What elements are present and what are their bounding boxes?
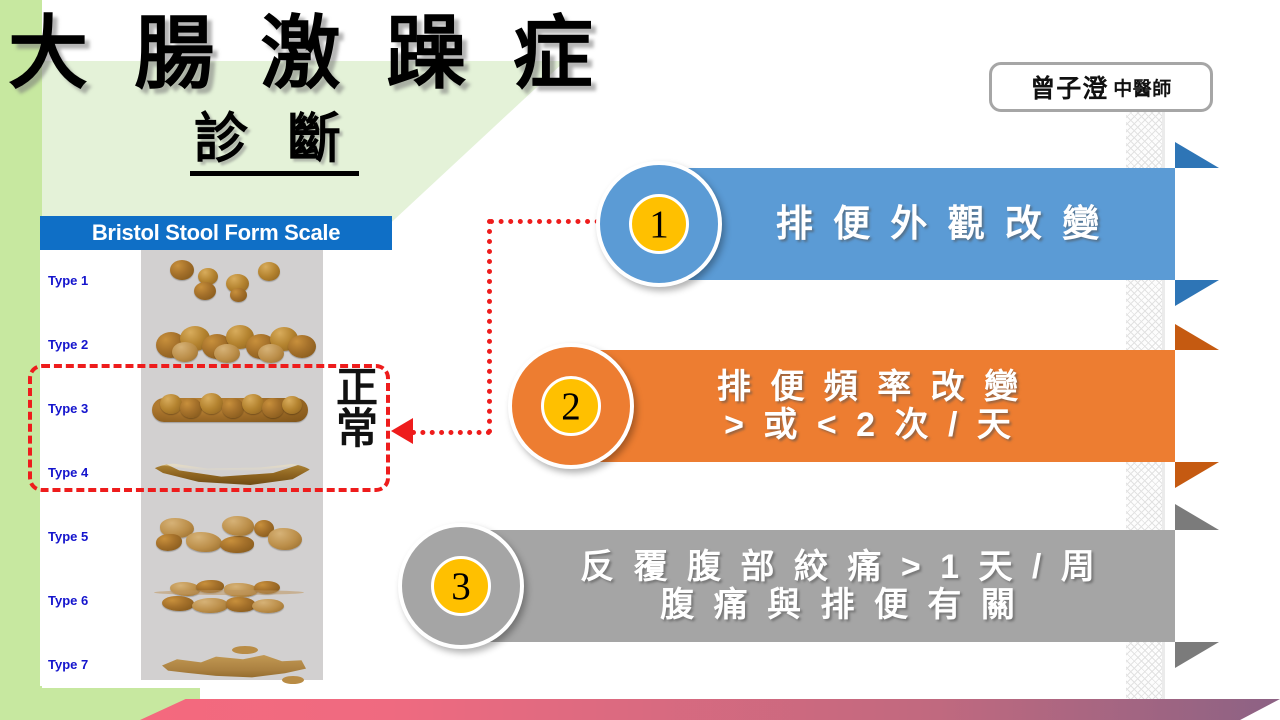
stool-type-label: Type 1 — [40, 273, 136, 288]
ribbon-fold-top — [1175, 324, 1219, 350]
criterion-banner-2[interactable]: 排 便 頻 率 改 變 > 或 < 2 次 / 天 2 — [550, 350, 1175, 462]
stool-type-6-illustration — [136, 572, 392, 630]
page-title: 大 腸 激 躁 症 — [8, 12, 605, 96]
criterion-1-line-1: 排 便 外 觀 改 變 — [776, 203, 1104, 244]
ribbon-fold-bottom — [1175, 462, 1219, 488]
criterion-1-number: 1 — [629, 194, 689, 254]
criterion-2-text: 排 便 頻 率 改 變 > 或 < 2 次 / 天 — [670, 350, 1070, 462]
stool-type-1-illustration — [136, 252, 392, 310]
author-badge: 曾子澄 中醫師 — [989, 62, 1213, 112]
stool-type-5-illustration — [136, 508, 392, 566]
slide-canvas: 大 腸 激 躁 症 診 斷 曾子澄 中醫師 Bristol Stool Form… — [0, 0, 1280, 720]
pink-gradient-bar — [140, 699, 1280, 720]
table-row: Type 7 — [40, 634, 392, 695]
bristol-chart-header: Bristol Stool Form Scale — [40, 216, 392, 250]
table-row: Type 5 — [40, 506, 392, 567]
connector-arrowhead-icon — [391, 418, 413, 444]
normal-range-label: 正常 — [332, 367, 382, 449]
criterion-3-line-2: 腹 痛 與 排 便 有 關 — [660, 586, 1020, 624]
stool-type-label: Type 4 — [40, 465, 136, 480]
connector-line-vertical — [487, 219, 492, 434]
criterion-banner-3[interactable]: 反 覆 腹 部 絞 痛 > 1 天 / 周 腹 痛 與 排 便 有 關 3 — [440, 530, 1175, 642]
author-name: 曾子澄 — [1030, 69, 1108, 105]
author-role: 中醫師 — [1113, 74, 1172, 101]
ribbon-fold-top — [1175, 142, 1219, 168]
criterion-2-badge: 2 — [508, 343, 634, 469]
stool-type-label: Type 3 — [40, 401, 136, 416]
stool-type-4-illustration — [136, 444, 392, 502]
criterion-3-line-1: 反 覆 腹 部 絞 痛 > 1 天 / 周 — [580, 548, 1100, 586]
green-left-band — [0, 0, 42, 720]
connector-line-bottom — [411, 430, 491, 435]
criterion-1-badge: 1 — [596, 161, 722, 287]
ribbon-fold-top — [1175, 504, 1219, 530]
criterion-2-number: 2 — [541, 376, 601, 436]
page-subtitle: 診 斷 — [190, 110, 359, 176]
stool-type-label: Type 6 — [40, 593, 136, 608]
criterion-2-line-2: > 或 < 2 次 / 天 — [724, 406, 1016, 444]
stool-type-label: Type 7 — [40, 657, 136, 672]
table-row: Type 1 — [40, 250, 392, 311]
stool-type-label: Type 2 — [40, 337, 136, 352]
stool-type-7-illustration — [136, 636, 392, 694]
criterion-1-text: 排 便 外 觀 改 變 — [750, 168, 1130, 280]
criterion-banner-1[interactable]: 排 便 外 觀 改 變 1 — [640, 168, 1175, 280]
ribbon-fold-bottom — [1175, 280, 1219, 306]
criterion-3-badge: 3 — [398, 523, 524, 649]
stool-type-label: Type 5 — [40, 529, 136, 544]
criterion-3-number: 3 — [431, 556, 491, 616]
table-row: Type 6 — [40, 570, 392, 631]
ribbon-fold-bottom — [1175, 642, 1219, 668]
criterion-2-line-1: 排 便 頻 率 改 變 — [717, 368, 1023, 406]
bristol-chart-body: Type 1 Type 2 — [40, 250, 392, 686]
criterion-3-text: 反 覆 腹 部 絞 痛 > 1 天 / 周 腹 痛 與 排 便 有 關 — [560, 530, 1120, 642]
